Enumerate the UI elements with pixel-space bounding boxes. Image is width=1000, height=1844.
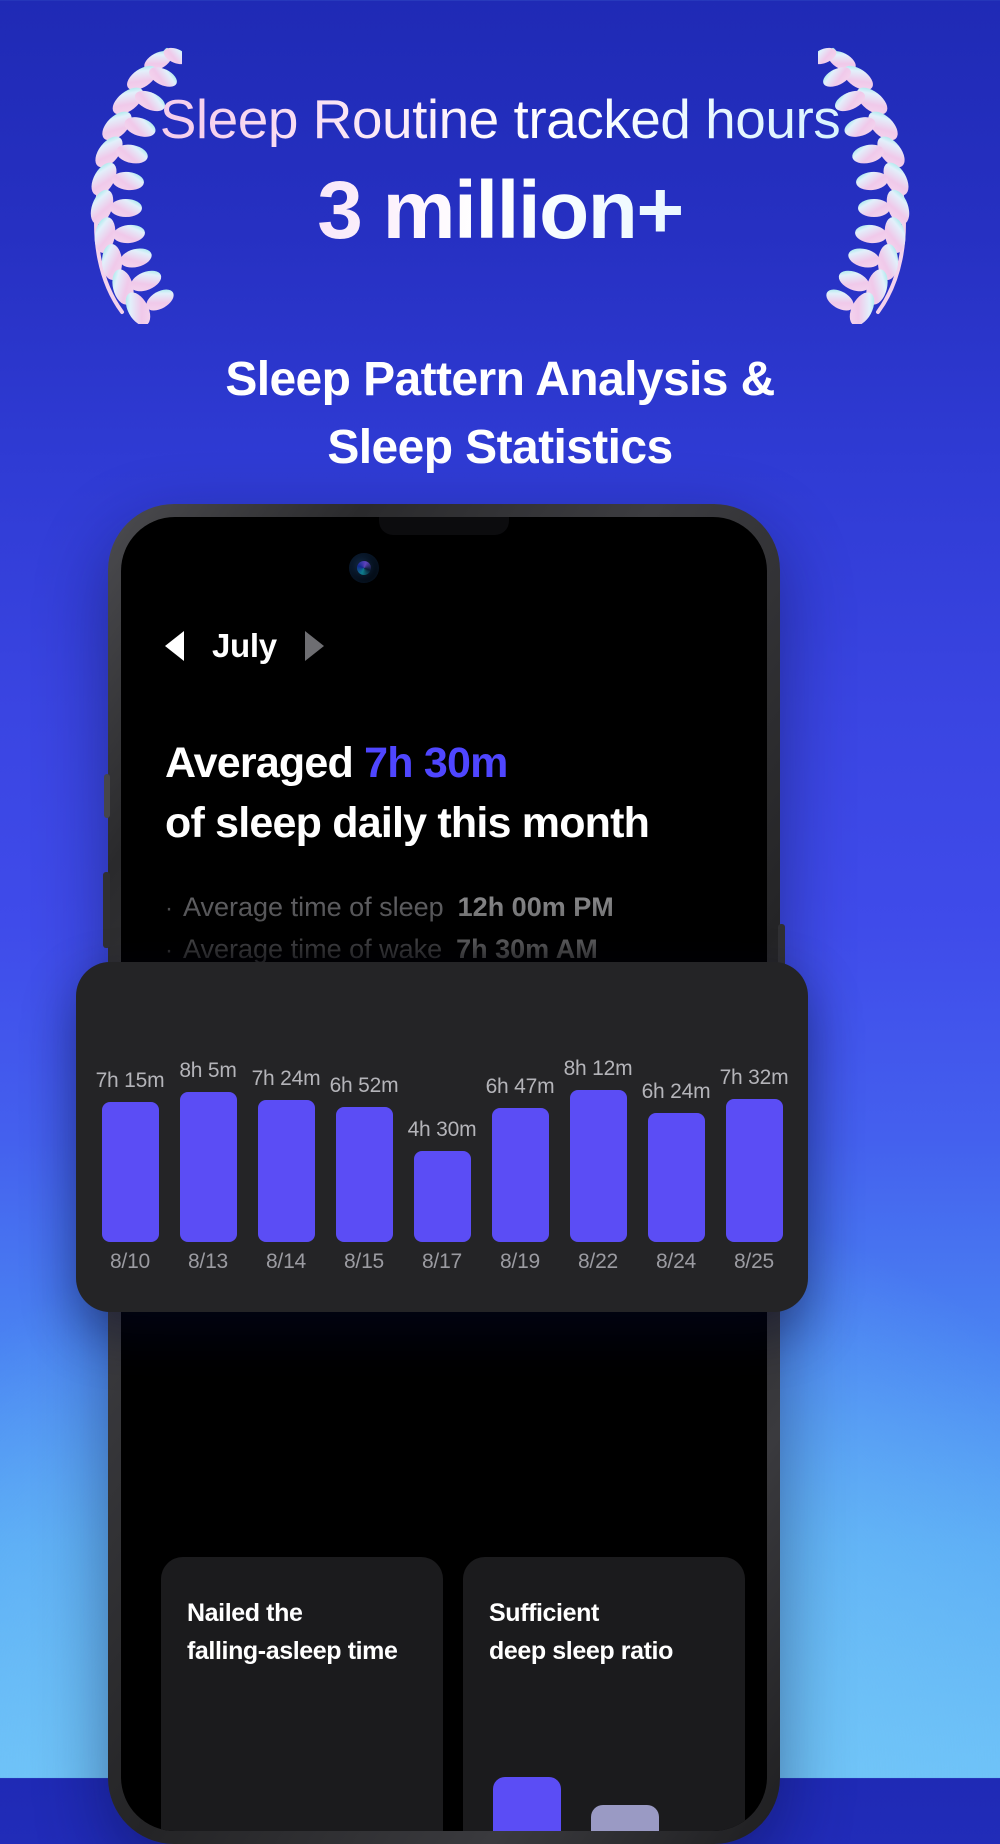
bar-column[interactable]: 4h 30m <box>403 1118 481 1242</box>
bar-rect <box>336 1107 393 1242</box>
bar-column[interactable]: 7h 24m <box>247 1067 325 1242</box>
triangle-left-icon[interactable] <box>165 631 184 661</box>
bar-value-label: 7h 15m <box>96 1069 165 1093</box>
hero-big-number: 3 million+ <box>0 168 1000 254</box>
hero-section: Sleep Routine tracked hours 3 million+ S… <box>0 0 1000 500</box>
bar-rect <box>102 1102 159 1242</box>
phone-volume-up-button[interactable] <box>103 872 110 948</box>
insight-card-title-line-2: deep sleep ratio <box>489 1633 719 1671</box>
insight-card-row: Nailed the falling-asleep time 25 Suffic… <box>161 1557 745 1831</box>
bar-column[interactable]: 6h 52m <box>325 1074 403 1242</box>
bar-column[interactable]: 8h 12m <box>559 1057 637 1242</box>
average-summary-prefix: Averaged <box>165 739 364 787</box>
bar-value-label: 6h 52m <box>330 1074 399 1098</box>
month-navigator: July <box>165 627 324 665</box>
bar-rect <box>570 1090 627 1242</box>
average-detail-list: · Average time of sleep 12h 00m PM · Ave… <box>165 887 725 971</box>
average-summary-line-2: of sleep daily this month <box>165 799 649 847</box>
bar-category-label: 8/15 <box>325 1250 403 1274</box>
phone-silent-switch[interactable] <box>104 774 110 818</box>
insight-bar-primary <box>493 1777 561 1831</box>
bar-chart-axis: 8/108/138/148/158/178/198/228/248/25 <box>76 1250 808 1274</box>
sleep-bar-chart-card: 7h 15m8h 5m7h 24m6h 52m4h 30m6h 47m8h 12… <box>76 962 808 1312</box>
bar-column[interactable]: 8h 5m <box>169 1059 247 1243</box>
list-item: · Average time of sleep 12h 00m PM <box>165 887 725 929</box>
bar-category-label: 8/14 <box>247 1250 325 1274</box>
bar-value-label: 8h 12m <box>564 1057 633 1081</box>
insight-card-bars <box>493 1777 659 1831</box>
average-summary: Averaged 7h 30m of sleep daily this mont… <box>165 733 725 853</box>
bar-category-label: 8/17 <box>403 1250 481 1274</box>
insight-card-title-line-2: falling-asleep time <box>187 1633 417 1671</box>
hero-title: Sleep Routine tracked hours <box>0 92 1000 147</box>
hero-subtitle-line-1: Sleep Pattern Analysis & <box>0 346 1000 414</box>
bar-category-label: 8/22 <box>559 1250 637 1274</box>
average-summary-highlight: 7h 30m <box>364 739 507 787</box>
bar-category-label: 8/13 <box>169 1250 247 1274</box>
insight-card-title: Sufficient deep sleep ratio <box>489 1595 719 1670</box>
bar-rect <box>648 1113 705 1242</box>
bar-column[interactable]: 7h 32m <box>715 1066 793 1242</box>
insight-card-deep-sleep[interactable]: Sufficient deep sleep ratio <box>463 1557 745 1831</box>
insight-card-falling-asleep[interactable]: Nailed the falling-asleep time 25 <box>161 1557 443 1831</box>
bar-value-label: 8h 5m <box>179 1059 236 1083</box>
insight-card-title-line-1: Nailed the <box>187 1595 417 1633</box>
bullet-icon: · <box>165 890 173 927</box>
front-camera-icon <box>349 553 379 583</box>
bar-chart-plot: 7h 15m8h 5m7h 24m6h 52m4h 30m6h 47m8h 12… <box>76 1036 808 1242</box>
triangle-right-icon[interactable] <box>305 631 324 661</box>
bar-rect <box>414 1151 471 1242</box>
bar-category-label: 8/25 <box>715 1250 793 1274</box>
hero-subtitle-line-2: Sleep Statistics <box>0 414 1000 482</box>
bar-column[interactable]: 6h 47m <box>481 1075 559 1242</box>
bar-rect <box>180 1092 237 1243</box>
bar-category-label: 8/10 <box>91 1250 169 1274</box>
bar-category-label: 8/24 <box>637 1250 715 1274</box>
bar-rect <box>258 1100 315 1242</box>
hero-subtitle: Sleep Pattern Analysis & Sleep Statistic… <box>0 346 1000 482</box>
month-label: July <box>212 627 277 665</box>
bar-column[interactable]: 7h 15m <box>91 1069 169 1242</box>
detail-label: Average time of sleep <box>183 887 444 929</box>
bar-value-label: 6h 47m <box>486 1075 555 1099</box>
phone-notch <box>379 517 509 535</box>
bar-category-label: 8/19 <box>481 1250 559 1274</box>
insight-card-title-line-1: Sufficient <box>489 1595 719 1633</box>
insight-bar-secondary <box>591 1805 659 1831</box>
bar-column[interactable]: 6h 24m <box>637 1080 715 1242</box>
insight-card-title: Nailed the falling-asleep time <box>187 1595 417 1670</box>
bar-value-label: 7h 32m <box>720 1066 789 1090</box>
bar-value-label: 7h 24m <box>252 1067 321 1091</box>
detail-value: 12h 00m PM <box>458 887 614 929</box>
bar-value-label: 4h 30m <box>408 1118 477 1142</box>
bar-rect <box>726 1099 783 1242</box>
bar-rect <box>492 1108 549 1242</box>
bar-value-label: 6h 24m <box>642 1080 711 1104</box>
